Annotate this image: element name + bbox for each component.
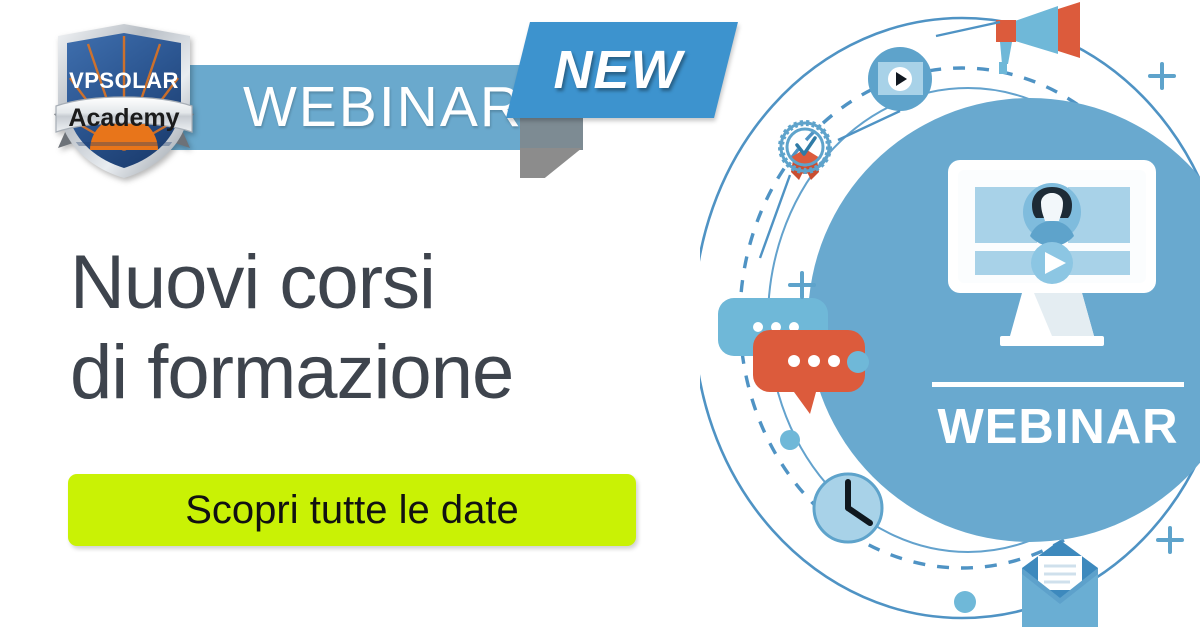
vpsolar-academy-logo: VPSOLAR Academy [48, 22, 200, 180]
headline-line-2: di formazione [70, 328, 690, 418]
promo-banner: WEBINAR NEW [0, 0, 1200, 627]
connector-line-3 [936, 22, 1000, 36]
orbit-dot-mid [780, 430, 800, 450]
header-zone: WEBINAR NEW [0, 0, 720, 200]
plus-icon-top-right [1150, 64, 1174, 88]
logo-vpsolar-text: VPSOLAR [69, 68, 179, 93]
award-ribbon-icon [781, 123, 829, 180]
connector-line-2 [760, 175, 790, 258]
avatar-icon [1023, 183, 1081, 246]
label-divider [932, 382, 1184, 387]
play-button-icon [1031, 242, 1073, 284]
illustration-center-label: WEBINAR [937, 400, 1178, 454]
clock-icon [814, 474, 882, 542]
cta-button[interactable]: Scopri tutte le date [68, 474, 636, 546]
connector-line-1 [838, 111, 900, 140]
screen-block-left-short [975, 251, 1037, 275]
webinar-illustration: WEBINAR [700, 0, 1200, 627]
orbit-dot-left [847, 351, 869, 373]
webinar-bar-label: WEBINAR [228, 63, 538, 151]
screen-block-right-short [1068, 251, 1130, 275]
headline-line-1: Nuovi corsi [70, 240, 435, 325]
video-player-icon [868, 47, 932, 111]
headline: Nuovi corsi di formazione [70, 238, 690, 417]
megaphone-icon [996, 2, 1080, 74]
plus-icon-bottom-right [1158, 528, 1182, 552]
orbit-dot-bottom [954, 591, 976, 613]
logo-academy-text: Academy [68, 104, 179, 132]
new-badge-label: NEW [523, 22, 713, 118]
ribbon-fold-tail [520, 148, 582, 178]
